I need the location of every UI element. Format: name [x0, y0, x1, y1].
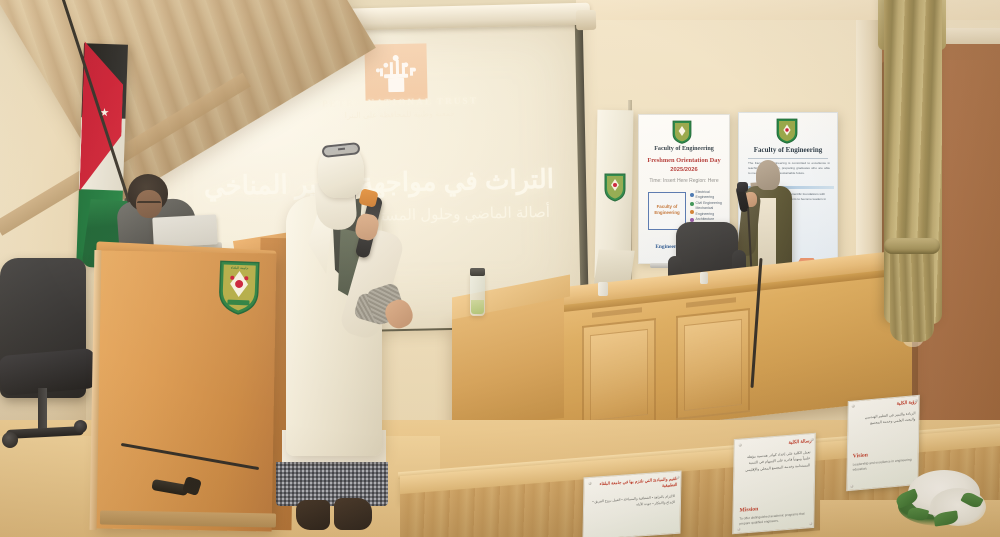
- main-speaker-shoe-left: [296, 500, 330, 530]
- placard-stud: [737, 528, 740, 531]
- main-speaker-shoe-right: [334, 498, 372, 530]
- curtain-tieback[interactable]: [884, 238, 940, 254]
- values-placard: القيم والمبادئ التي نلتزم بها في جامعة ا…: [582, 471, 681, 537]
- banner-two-crest-icon: [776, 118, 798, 144]
- mission-placard-body-en: To offer distinguished academic programs…: [739, 511, 809, 527]
- values-placard-title-ar: القيم والمبادئ التي نلتزم بها في جامعة ا…: [589, 476, 677, 494]
- banner-one-box-label: Faculty of Engineering: [648, 204, 686, 215]
- mission-placard: رسالة الكلية تعمل الكلية على إعداد كوادر…: [732, 433, 816, 535]
- table-cup-a: [598, 282, 608, 296]
- banner-one-headline: Freshmen Orientation Day: [640, 157, 728, 164]
- table-panel-a-inner: [590, 329, 648, 421]
- table-panel-b-inner: [684, 319, 742, 411]
- right-curtain-tail: [890, 252, 934, 342]
- bullet-dot: [690, 210, 694, 214]
- placard-stud: [676, 476, 679, 479]
- second-speaker-microphone-head: [737, 182, 748, 192]
- banner-one-department-item: Mechanical Engineering: [690, 206, 728, 217]
- placard-stud: [809, 522, 812, 525]
- table-cup-b: [700, 272, 708, 284]
- vision-placard: رؤية الكلية الريادة والتميز في التعليم ا…: [846, 395, 920, 491]
- placard-stud: [811, 438, 814, 441]
- banner-one-time-line: Time: Insert Here Region: Here: [640, 178, 728, 184]
- vision-placard-title-en: Vision: [853, 452, 868, 459]
- vision-placard-body-ar: الريادة والتميز في التعليم الهندسي والبح…: [853, 410, 915, 428]
- university-crest-icon: [604, 172, 626, 202]
- mission-placard-title-en: Mission: [740, 506, 759, 513]
- banner-one-department-label: Electrical Engineering: [696, 190, 729, 201]
- right-wall-panel-far: [940, 60, 1000, 420]
- banner-one-crest-icon: [672, 120, 692, 144]
- bullet-dot: [690, 202, 694, 206]
- banner-one-year: 2025/2026: [640, 167, 728, 173]
- conference-hall-photo: PETRA NATIONAL TRUST جمعية وطنية للمحافظ…: [0, 0, 1000, 537]
- banner-one-department-label: Mechanical Engineering: [696, 206, 729, 217]
- banner-one-department-item: Electrical Engineering: [690, 190, 728, 201]
- second-speaker-hijab: [756, 160, 780, 190]
- banner-one-faculty: Faculty of Engineering: [640, 146, 728, 152]
- banner-two-divider: [748, 158, 828, 159]
- values-placard-body-ar: الالتزام بالنزاهة • الشفافية والمساءلة •…: [591, 494, 675, 511]
- main-speaker-hem-pattern: [276, 462, 388, 506]
- water-bottle-cap: [470, 268, 485, 276]
- banner-two-faculty: Faculty of Engineering: [740, 146, 836, 154]
- petra-trust-logo-glyph: [368, 49, 425, 96]
- vision-placard-body-en: Leadership and excellence in engineering…: [853, 457, 915, 473]
- office-chair-seat: [0, 348, 98, 396]
- screen-roller-cap: [576, 10, 596, 30]
- mission-placard-body-ar: تعمل الكلية على إعداد كوادر هندسية مؤهلة…: [740, 449, 810, 474]
- mission-placard-title-ar: رسالة الكلية: [740, 438, 812, 450]
- office-chair-caster: [74, 420, 87, 433]
- vision-placard-title-ar: رؤية الكلية: [853, 399, 917, 411]
- placard-stud: [915, 399, 918, 402]
- bullet-dot: [690, 193, 694, 197]
- podium-university-emblem: جامعة البلقاء: [217, 257, 261, 316]
- technician-glasses: [137, 201, 161, 206]
- office-chair-caster: [2, 432, 18, 448]
- laptop-screen: [152, 214, 217, 247]
- svg-text:جامعة البلقاء: جامعة البلقاء: [231, 266, 249, 271]
- water-bottle-contents: [471, 300, 484, 314]
- placard-stud: [850, 485, 853, 488]
